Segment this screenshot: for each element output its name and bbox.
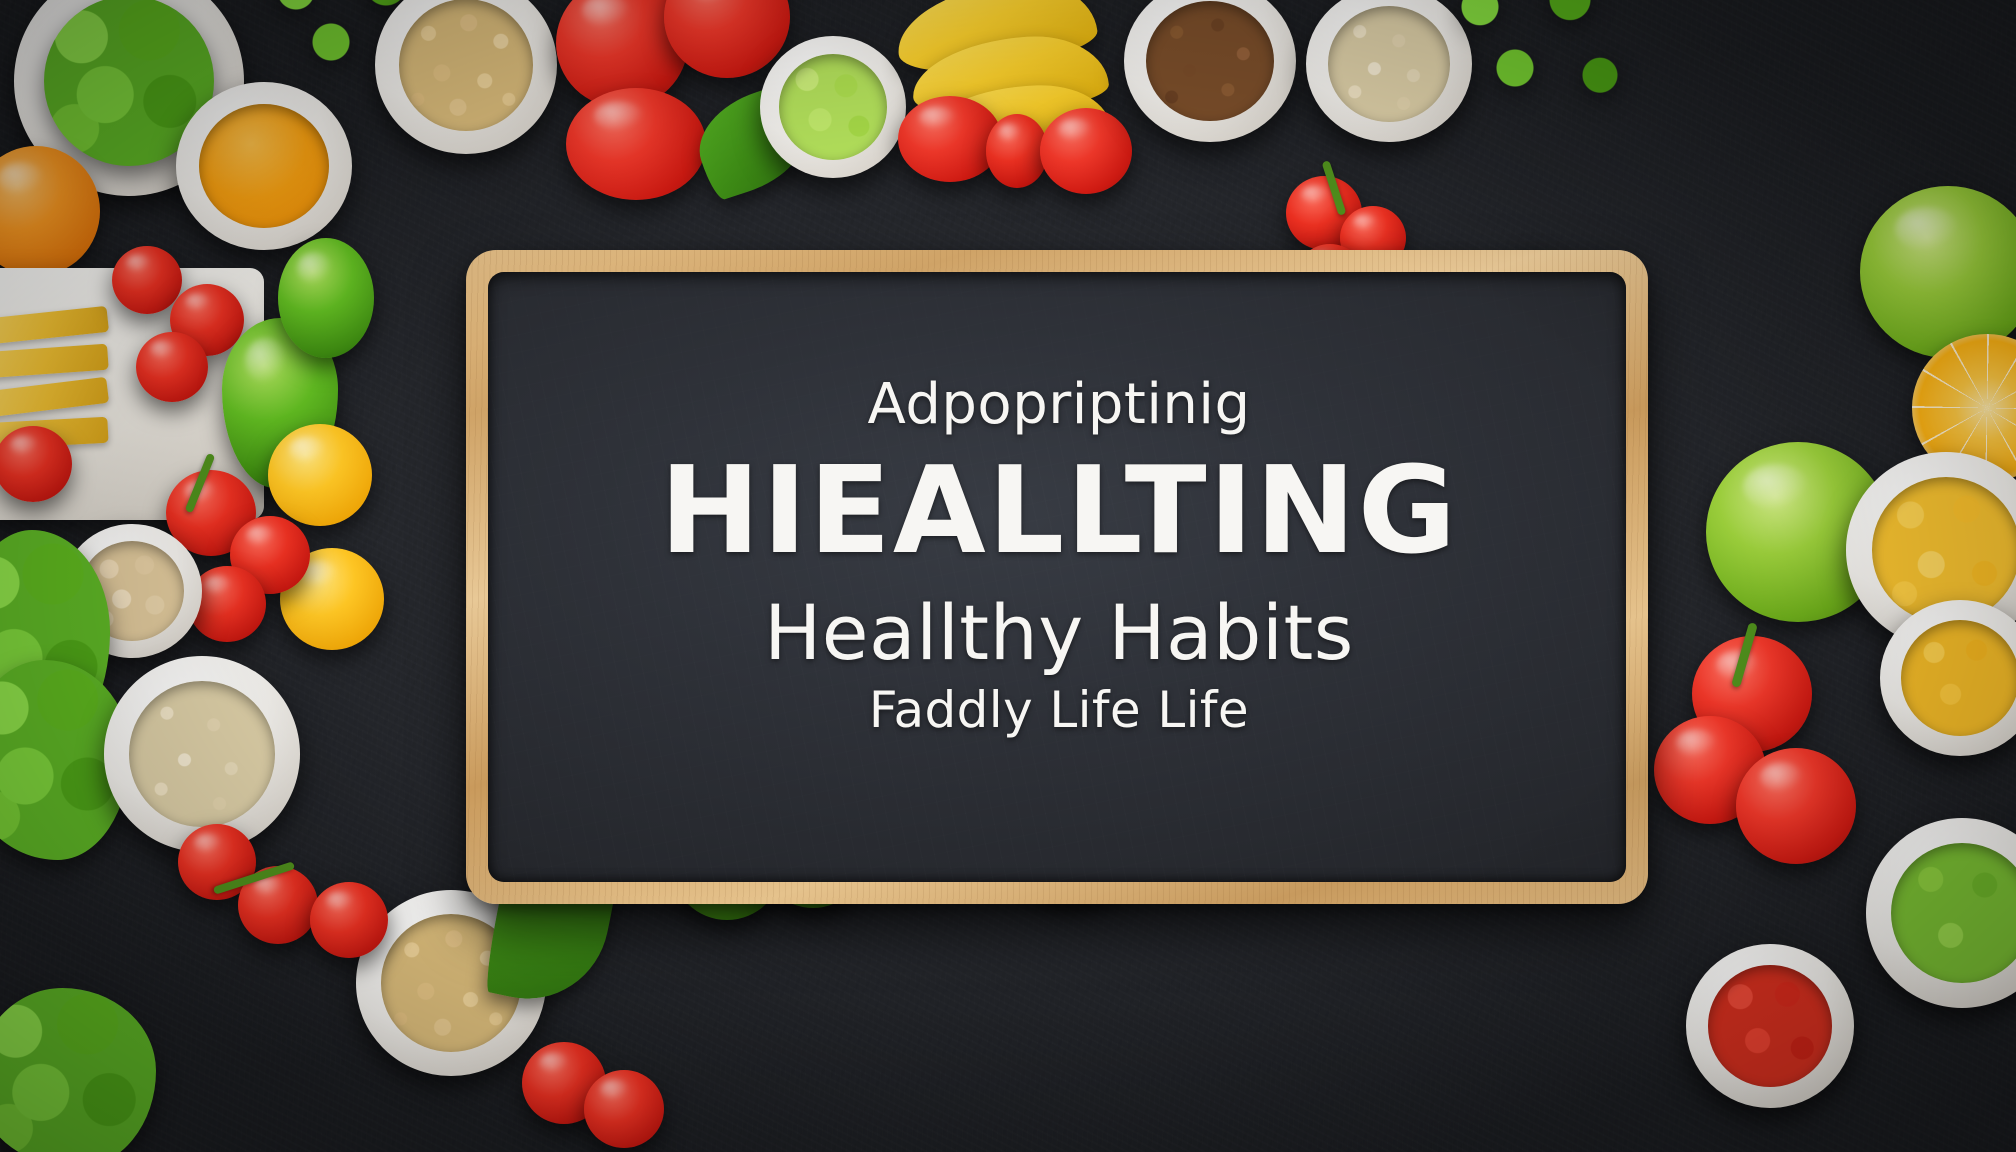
- chickpea-bowl-fill: [399, 0, 534, 131]
- orange-juice-bowl: [176, 82, 352, 250]
- tomato-right-3: [1736, 748, 1856, 864]
- cheese-stick-3: [0, 377, 109, 417]
- orange-juice-fill: [199, 104, 329, 228]
- chalkboard-text-block: Adpopriptinig HIEALLTING Heallthy Habits…: [488, 272, 1626, 882]
- chalkboard-face: Adpopriptinig HIEALLTING Heallthy Habits…: [488, 272, 1626, 882]
- tomato-top-4: [898, 96, 1002, 182]
- grain-bowl-lower-left: [104, 656, 300, 852]
- tomato-top-3: [566, 88, 706, 200]
- cherry-tomato-tray-3: [136, 332, 208, 402]
- lime-left: [278, 238, 374, 358]
- subhead-text: Heallthy Habits: [764, 593, 1354, 673]
- celery-bowl-fill: [1891, 843, 2016, 984]
- green-pepper-fill: [779, 54, 887, 159]
- tagline-text: Faddly Life Life: [869, 685, 1249, 735]
- red-berry-bowl-fill: [1708, 965, 1832, 1086]
- eyebrow-text: Adpopriptinig: [868, 377, 1251, 433]
- cheese-stick-1: [0, 306, 109, 344]
- red-berry-bowl: [1686, 944, 1854, 1108]
- buckwheat-fill: [1146, 1, 1273, 121]
- tomato-top-5: [986, 114, 1048, 188]
- cherry-tomato-bottom-3: [310, 882, 388, 958]
- lemon-left-upper: [268, 424, 372, 526]
- food-flatlay-scene: Adpopriptinig HIEALLTING Heallthy Habits…: [0, 0, 2016, 1152]
- cherry-tomato-bottom-5: [584, 1070, 664, 1148]
- green-pepper-bowl: [760, 36, 906, 178]
- cheese-stick-2: [0, 344, 109, 379]
- corn-bowl-fill: [1901, 620, 2016, 735]
- headline-text: HIEALLTING: [660, 451, 1458, 573]
- tomato-top-6: [1040, 108, 1132, 194]
- grain-bowl-lower-fill: [129, 681, 274, 826]
- chalkboard: Adpopriptinig HIEALLTING Heallthy Habits…: [466, 250, 1648, 904]
- cherry-tomato-tray-1: [112, 246, 182, 314]
